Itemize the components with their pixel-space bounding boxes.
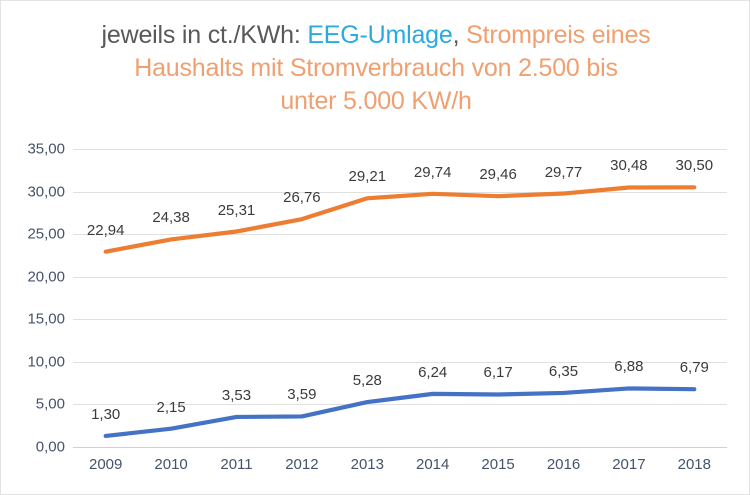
gridline-0-00 xyxy=(73,447,727,448)
title-segment-comma: , xyxy=(453,21,467,49)
title-segment-strompreis: Strompreis eines xyxy=(466,21,650,49)
chart-container: jeweils in ct./KWh: EEG-Umlage, Strompre… xyxy=(0,0,750,495)
y-tick-label: 35,00 xyxy=(0,141,65,158)
y-tick-label: 10,00 xyxy=(0,353,65,370)
chart-title-line-2: Haushalts mit Stromverbrauch von 2.500 b… xyxy=(1,52,750,85)
data-label: 26,76 xyxy=(262,189,342,206)
title-segment-eeg-umlage: EEG-Umlage xyxy=(307,21,452,49)
y-tick-label: 30,00 xyxy=(0,183,65,200)
data-label: 30,50 xyxy=(654,157,734,174)
data-label: 6,79 xyxy=(654,359,734,376)
chart-title: jeweils in ct./KWh: EEG-Umlage, Strompre… xyxy=(1,19,750,118)
y-tick-label: 5,00 xyxy=(0,396,65,413)
y-tick-label: 25,00 xyxy=(0,226,65,243)
y-tick-label: 0,00 xyxy=(0,439,65,456)
y-tick-label: 20,00 xyxy=(0,268,65,285)
title-segment-unit: jeweils in ct./KWh: xyxy=(102,21,308,49)
y-tick-label: 15,00 xyxy=(0,311,65,328)
chart-title-line-3: unter 5.000 KW/h xyxy=(1,85,750,118)
x-tick-label-2018: 2018 xyxy=(649,456,739,473)
chart-title-line-1: jeweils in ct./KWh: EEG-Umlage, Strompre… xyxy=(1,19,750,52)
